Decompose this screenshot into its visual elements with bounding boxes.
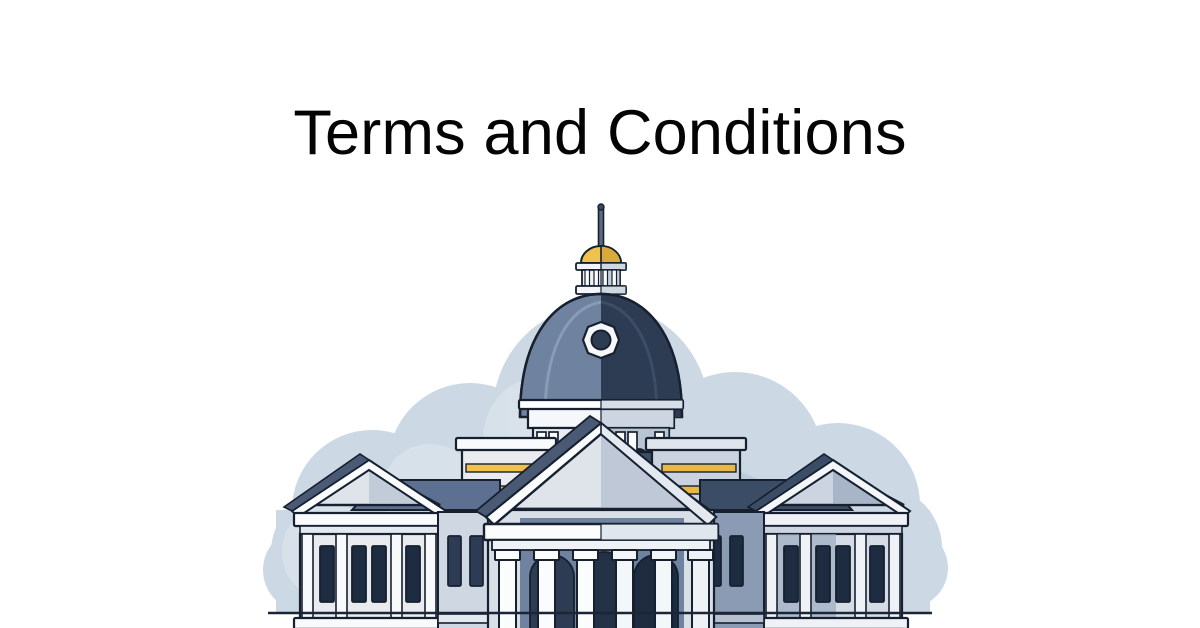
dome [520, 294, 682, 417]
page-title: Terms and Conditions [0, 98, 1200, 169]
portico-entablature [484, 524, 718, 550]
portico-column [495, 550, 520, 628]
portico-column [573, 550, 598, 628]
gold-cupola [576, 246, 626, 294]
page-root: Terms and Conditions [0, 0, 1200, 628]
portico-column [651, 550, 676, 628]
portico-column [534, 550, 559, 628]
portico-column [612, 550, 637, 628]
oculus-window [583, 322, 619, 358]
courthouse-illustration [0, 180, 1200, 628]
courthouse-illustration-svg [0, 180, 1200, 628]
portico-column [688, 550, 713, 628]
